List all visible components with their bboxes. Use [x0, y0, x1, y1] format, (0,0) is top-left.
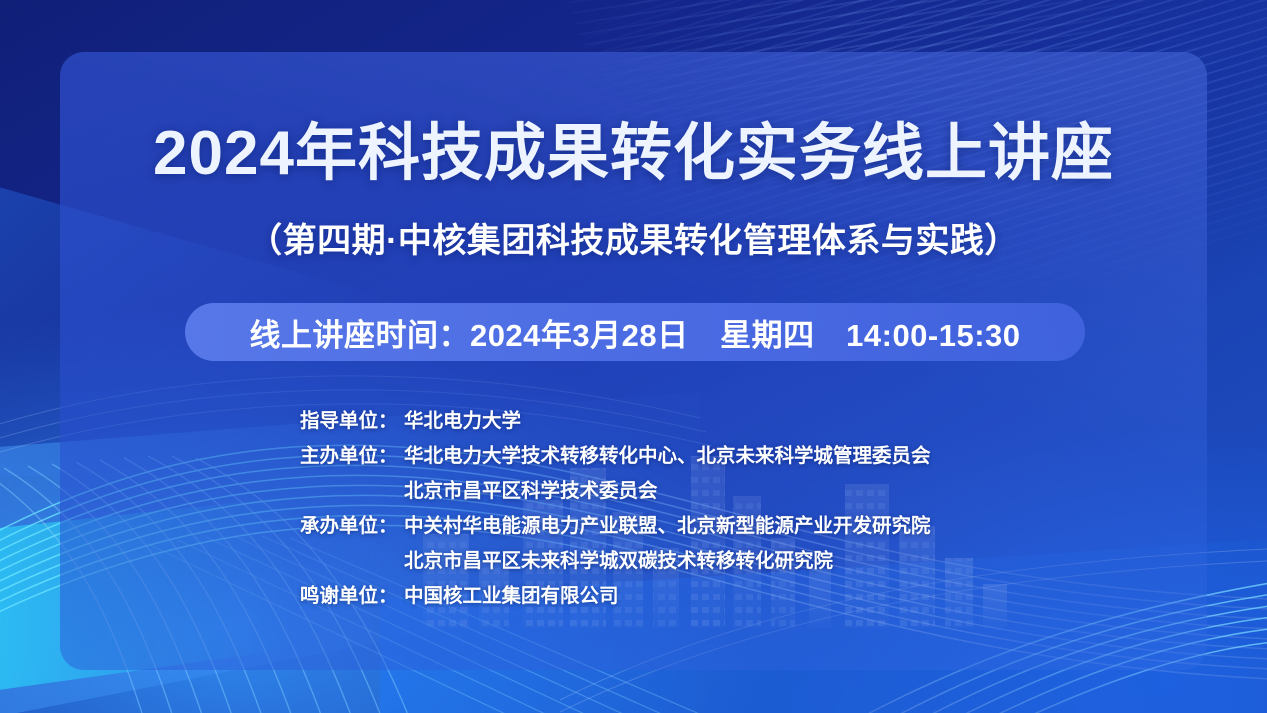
organizer-label: 承办单位：: [300, 509, 404, 544]
organizer-value: 中国核工业集团有限公司: [404, 579, 1020, 614]
list-item: 指导单位： 华北电力大学: [300, 404, 1020, 439]
organizer-label: 鸣谢单位：: [300, 579, 404, 614]
poster-subtitle: （第四期·中核集团科技成果转化管理体系与实践）: [0, 213, 1267, 262]
organizer-value: 北京市昌平区科学技术委员会: [404, 474, 1020, 509]
schedule-banner: 线上讲座时间：2024年3月28日 星期四 14:00-15:30: [185, 303, 1085, 361]
list-item: 鸣谢单位： 中国核工业集团有限公司: [300, 579, 1020, 614]
list-item: 北京市昌平区科学技术委员会: [300, 474, 1020, 509]
organizer-label: 指导单位：: [300, 404, 404, 439]
poster-content: 2024年科技成果转化实务线上讲座 （第四期·中核集团科技成果转化管理体系与实践…: [0, 0, 1267, 713]
page-title: 2024年科技成果转化实务线上讲座: [0, 102, 1267, 192]
list-item: 主办单位： 华北电力大学技术转移转化中心、北京未来科学城管理委员会: [300, 439, 1020, 474]
list-item: 北京市昌平区未来科学城双碳技术转移转化研究院: [300, 544, 1020, 579]
poster-canvas: 2024年科技成果转化实务线上讲座 （第四期·中核集团科技成果转化管理体系与实践…: [0, 0, 1267, 713]
organizer-list: 指导单位： 华北电力大学 主办单位： 华北电力大学技术转移转化中心、北京未来科学…: [300, 404, 1020, 614]
organizer-value: 华北电力大学技术转移转化中心、北京未来科学城管理委员会: [404, 439, 1020, 474]
list-item: 承办单位： 中关村华电能源电力产业联盟、北京新型能源产业开发研究院: [300, 509, 1020, 544]
organizer-value: 中关村华电能源电力产业联盟、北京新型能源产业开发研究院: [404, 509, 1020, 544]
organizer-value: 北京市昌平区未来科学城双碳技术转移转化研究院: [404, 544, 1020, 579]
organizer-label: 主办单位：: [300, 439, 404, 474]
organizer-value: 华北电力大学: [404, 404, 1020, 439]
schedule-banner-text: 线上讲座时间：2024年3月28日 星期四 14:00-15:30: [249, 310, 1020, 355]
